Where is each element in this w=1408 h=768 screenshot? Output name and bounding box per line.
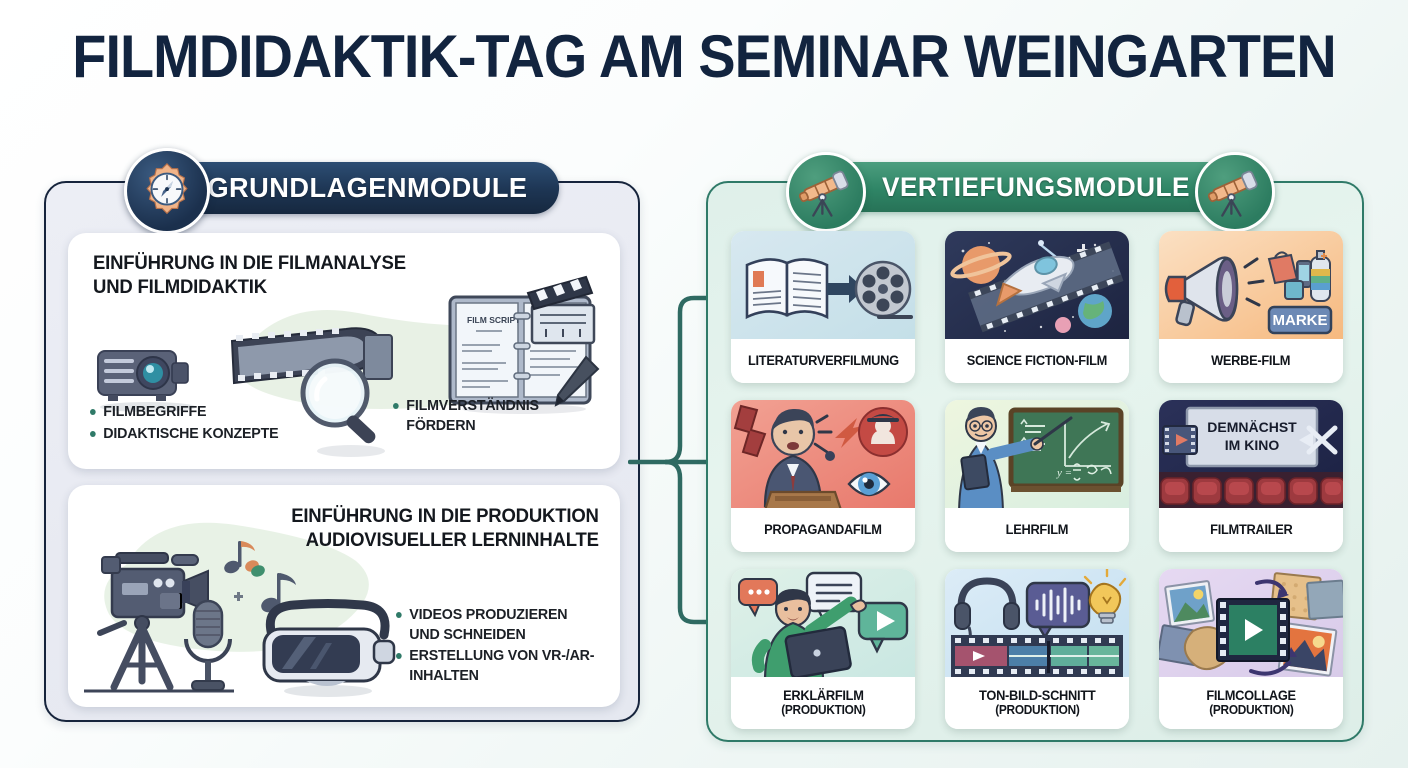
tile-caption: LEHRFILM <box>945 508 1129 552</box>
spaceship-planets-filmstrip-icon <box>945 231 1129 339</box>
tile-caption: WERBE-FILM <box>1159 339 1343 383</box>
film-script-label: FILM SCRIPT <box>467 315 521 325</box>
lightbulb-icon <box>1085 569 1125 623</box>
card-title-line1: EINFÜHRUNG IN DIE PRODUKTION <box>291 505 599 529</box>
photo-collage-play-icon <box>1159 569 1343 677</box>
card-title-line2: AUDIOVISUELLER LERNINHALTE <box>291 529 599 553</box>
tile-werbe-film[interactable]: MARKE WERBE-FILM <box>1159 231 1343 383</box>
tile-label: TON-BILD-SCHNITT <box>979 688 1095 703</box>
tile-sublabel: (PRODUKTION) <box>995 703 1079 717</box>
bullet-item: VIDEOS PRODUZIEREN UND SCHNEIDEN <box>396 605 600 644</box>
tile-lehrfilm[interactable]: y = LEHRFILM <box>945 400 1129 552</box>
vertiefungsmodule-header: VERTIEFUNGSMODULE <box>813 162 1259 212</box>
tile-filmcollage[interactable]: FILMCOLLAGE (PRODUKTION) <box>1159 569 1343 729</box>
card-title-line1: EINFÜHRUNG IN DIE FILMANALYSE <box>93 252 406 276</box>
grundlagenmodule-header: GRUNDLAGENMODULE <box>176 162 559 214</box>
trailer-text-line1: DEMNÄCHST <box>1207 419 1297 435</box>
bullet-item: ERSTELLUNG VON VR-/AR-INHALTEN <box>396 646 600 685</box>
vr-headset-icon <box>254 597 400 699</box>
tile-label: WERBE-FILM <box>1211 353 1290 368</box>
compass-gear-icon <box>124 148 210 234</box>
grundlagen-card-filmanalyse[interactable]: EINFÜHRUNG IN DIE FILMANALYSE UND FILMDI… <box>68 233 620 469</box>
tile-label: FILMTRAILER <box>1210 522 1292 537</box>
telescope-icon <box>786 152 866 232</box>
trailer-text-line2: IM KINO <box>1225 437 1280 453</box>
clapperboard-icon <box>528 277 594 343</box>
tile-caption: TON-BILD-SCHNITT (PRODUKTION) <box>945 677 1129 729</box>
tile-caption: FILMTRAILER <box>1159 508 1343 552</box>
tile-caption: PROPAGANDAFILM <box>731 508 915 552</box>
card-bullets-left: FILMBEGRIFFE DIDAKTISCHE KONZEPTE <box>90 400 278 445</box>
headphones-waveform-timeline-icon <box>945 569 1129 677</box>
tile-label: ERKLÄRFILM <box>783 688 864 703</box>
tile-caption: FILMCOLLAGE (PRODUKTION) <box>1159 677 1343 729</box>
tile-literaturverfilmung[interactable]: LITERATURVERFILMUNG <box>731 231 915 383</box>
teacher-chalkboard-icon: y = <box>945 400 1129 508</box>
card-title: EINFÜHRUNG IN DIE FILMANALYSE UND FILMDI… <box>93 252 406 300</box>
card-title-line2: UND FILMDIDAKTIK <box>93 276 406 300</box>
tile-sublabel: (PRODUKTION) <box>1209 703 1293 717</box>
tile-ton-bild-schnitt[interactable]: TON-BILD-SCHNITT (PRODUKTION) <box>945 569 1129 729</box>
tile-sublabel: (PRODUKTION) <box>781 703 865 717</box>
microphone-icon <box>172 595 244 699</box>
speaker-podium-eye-icon <box>731 400 915 508</box>
tile-science-fiction-film[interactable]: SCIENCE FICTION-FILM <box>945 231 1129 383</box>
tile-label: LEHRFILM <box>1006 522 1069 537</box>
eye-icon <box>849 473 889 495</box>
tile-label: SCIENCE FICTION-FILM <box>967 353 1107 368</box>
bullet-item: DIDAKTISCHE KONZEPTE <box>90 424 278 444</box>
bullet-item: FILMBEGRIFFE <box>90 402 278 422</box>
card-bullets-right: FILMVERSTÄNDNIS FÖRDERN <box>393 394 609 437</box>
tile-propagandafilm[interactable]: PROPAGANDAFILM <box>731 400 915 552</box>
card-title: EINFÜHRUNG IN DIE PRODUKTION AUDIOVISUEL… <box>291 505 599 553</box>
bullet-item: FILMVERSTÄNDNIS FÖRDERN <box>393 396 609 435</box>
svg-text:y =: y = <box>1056 467 1072 479</box>
presenter-tablet-speech-icon <box>731 569 915 677</box>
megaphone-products-icon: MARKE <box>1159 231 1343 339</box>
card-bullets-right: VIDEOS PRODUZIEREN UND SCHNEIDEN ERSTELL… <box>396 603 600 687</box>
tile-caption: SCIENCE FICTION-FILM <box>945 339 1129 383</box>
tile-label: PROPAGANDAFILM <box>764 522 882 537</box>
marke-badge-label: MARKE <box>1273 312 1328 329</box>
tile-filmtrailer[interactable]: DEMNÄCHST IM KINO <box>1159 400 1343 552</box>
grundlagen-card-produktion[interactable]: EINFÜHRUNG IN DIE PRODUKTION AUDIOVISUEL… <box>68 485 620 707</box>
tile-label: LITERATURVERFILMUNG <box>748 353 899 368</box>
tile-label: FILMCOLLAGE <box>1206 688 1295 703</box>
tile-caption: LITERATURVERFILMUNG <box>731 339 915 383</box>
page-title: FILMDIDAKTIK-TAG AM SEMINAR WEINGARTEN <box>49 22 1358 91</box>
cinema-screen-seats-icon: DEMNÄCHST IM KINO <box>1159 400 1343 508</box>
tile-caption: ERKLÄRFILM (PRODUKTION) <box>731 677 915 729</box>
book-to-film-reel-icon <box>731 231 915 339</box>
magnifier-icon <box>293 353 397 461</box>
telescope-icon <box>1195 152 1275 232</box>
tile-erklaerfilm[interactable]: ERKLÄRFILM (PRODUKTION) <box>731 569 915 729</box>
